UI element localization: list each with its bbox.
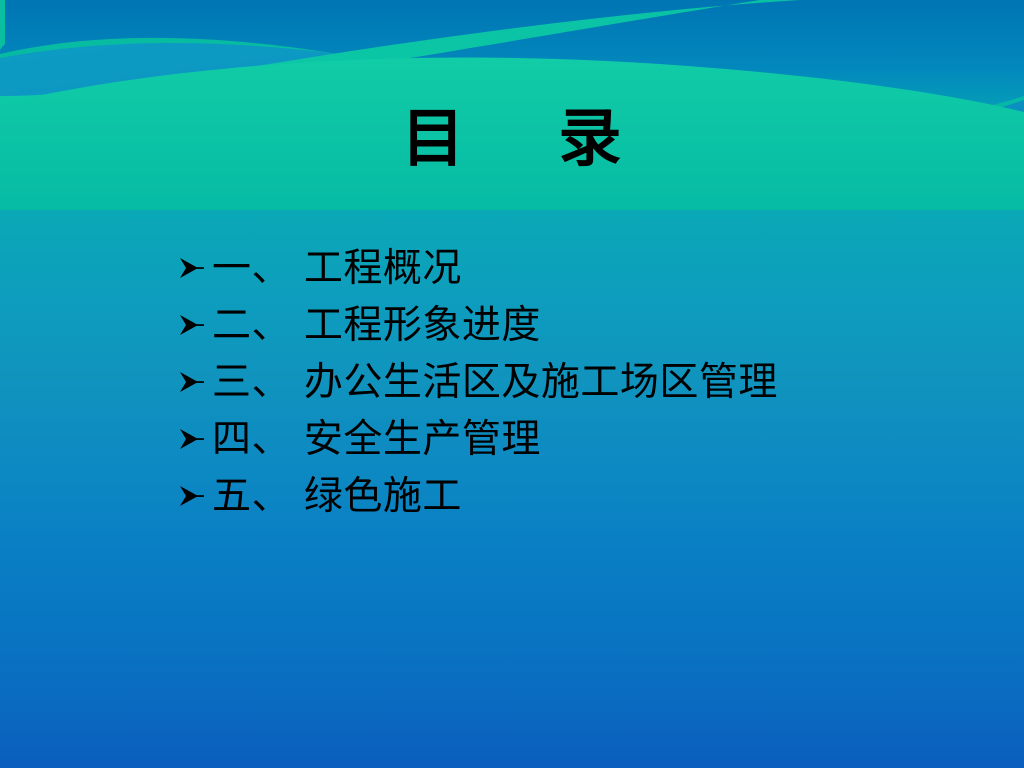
arrowhead-bullet-icon <box>178 297 212 339</box>
toc-item-5[interactable]: 五、 绿色施工 <box>178 468 978 525</box>
presentation-slide: 目 录 一、 工程概况 二、 工程形象进度 <box>0 0 1024 768</box>
toc-item-2[interactable]: 二、 工程形象进度 <box>178 297 978 354</box>
arrowhead-bullet-icon <box>178 354 212 396</box>
toc-item-4[interactable]: 四、 安全生产管理 <box>178 411 978 468</box>
slide-title: 目 录 <box>0 104 1024 172</box>
arrowhead-bullet-icon <box>178 411 212 453</box>
arrowhead-bullet-icon <box>178 240 212 282</box>
toc-item-label: 三、 办公生活区及施工场区管理 <box>212 354 778 411</box>
toc-item-1[interactable]: 一、 工程概况 <box>178 240 978 297</box>
wave-edge-sliver <box>0 0 5 50</box>
wave-ribbon-teal <box>0 0 1024 108</box>
arrowhead-bullet-icon <box>178 468 212 510</box>
toc-item-3[interactable]: 三、 办公生活区及施工场区管理 <box>178 354 978 411</box>
table-of-contents-list: 一、 工程概况 二、 工程形象进度 三、 办公生活区及施工场区管理 <box>178 240 978 525</box>
toc-item-label: 一、 工程概况 <box>212 240 462 297</box>
toc-item-label: 二、 工程形象进度 <box>212 297 541 354</box>
toc-item-label: 五、 绿色施工 <box>212 468 462 525</box>
toc-item-label: 四、 安全生产管理 <box>212 411 541 468</box>
